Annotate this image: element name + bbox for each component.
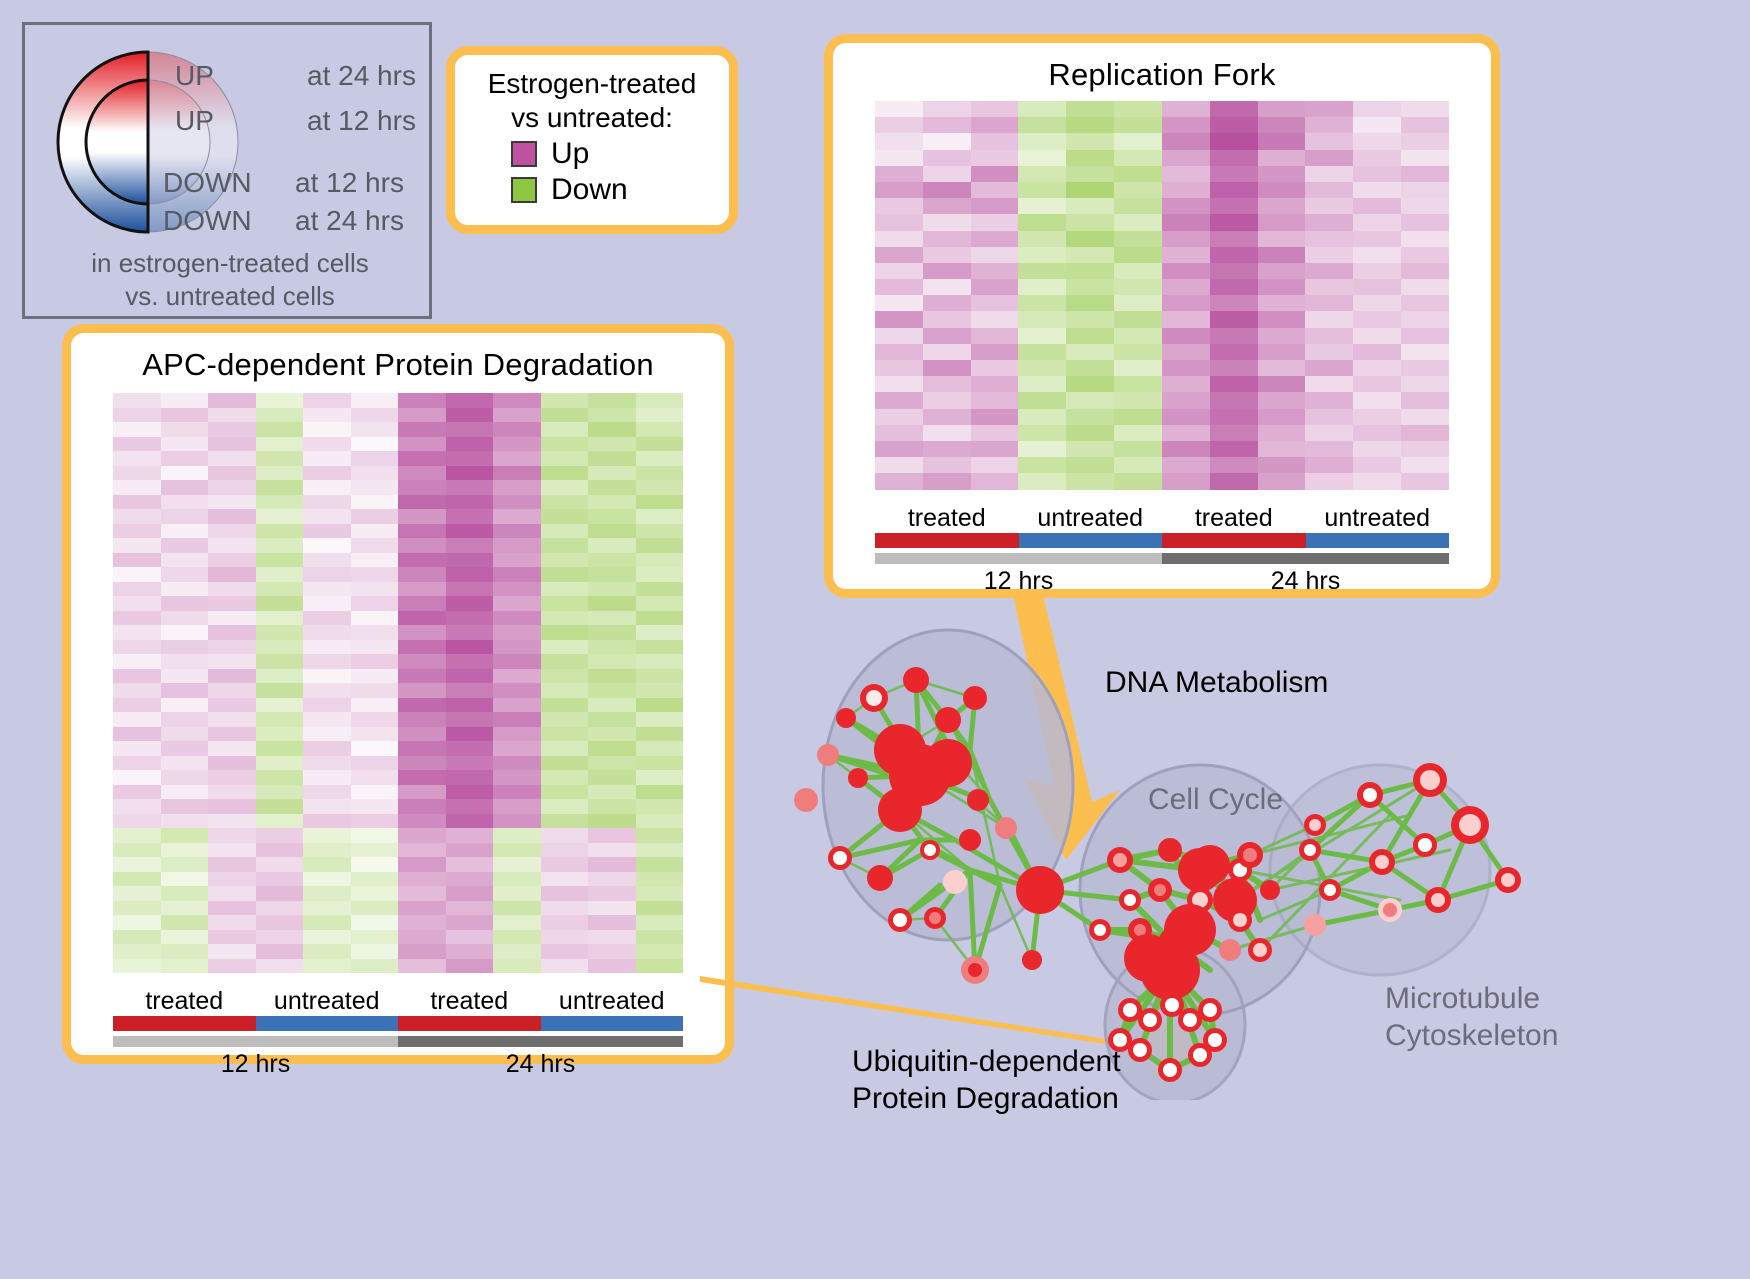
key-label: UP bbox=[175, 60, 307, 92]
heatmap-cell bbox=[1305, 247, 1353, 263]
heatmap-cell bbox=[493, 611, 541, 626]
heatmap-cell bbox=[256, 727, 304, 742]
heatmap-cell bbox=[446, 915, 494, 930]
heatmap-cell bbox=[446, 741, 494, 756]
heatmap-cell bbox=[541, 567, 589, 582]
heatmap-cell bbox=[351, 727, 399, 742]
heatmap-cell bbox=[1114, 247, 1162, 263]
heatmap-cell bbox=[636, 727, 684, 742]
heatmap-cell bbox=[923, 214, 971, 230]
heatmap-cell bbox=[1162, 150, 1210, 166]
heatmap-cell bbox=[588, 872, 636, 887]
heatmap-cell bbox=[493, 857, 541, 872]
heatmap-cell bbox=[1353, 295, 1401, 311]
heatmap-cell bbox=[971, 311, 1019, 327]
heatmap-cell bbox=[1210, 279, 1258, 295]
heatmap-cell bbox=[588, 828, 636, 843]
axis-apc-degradation: treated untreated treated untreated 12 h… bbox=[113, 987, 683, 1079]
label-dna-metabolism: DNA Metabolism bbox=[1105, 664, 1328, 701]
heatmap-cell bbox=[1114, 166, 1162, 182]
heatmap-cell bbox=[351, 640, 399, 655]
heatmap-cell bbox=[161, 770, 209, 785]
treatment-labels: treated untreated treated untreated bbox=[113, 987, 683, 1016]
heatmap-cell bbox=[208, 466, 256, 481]
heatmap-cell bbox=[636, 683, 684, 698]
heatmap-cell bbox=[303, 915, 351, 930]
heatmap-cell bbox=[303, 814, 351, 829]
heatmap-cell bbox=[1401, 376, 1449, 392]
heatmap-cell bbox=[113, 466, 161, 481]
heatmap-cell bbox=[256, 393, 304, 408]
heatmap-cell bbox=[875, 133, 923, 149]
heatmap-cell bbox=[161, 495, 209, 510]
heatmap-cell bbox=[971, 473, 1019, 489]
heatmap-cell bbox=[1401, 457, 1449, 473]
heatmap-cell bbox=[446, 857, 494, 872]
heatmap-cell bbox=[256, 785, 304, 800]
heatmap-cell bbox=[1305, 166, 1353, 182]
heatmap-cell bbox=[493, 828, 541, 843]
heatmap-cell bbox=[1210, 231, 1258, 247]
heatmap-cell bbox=[971, 198, 1019, 214]
heatmap-cell bbox=[208, 524, 256, 539]
heatmap-cell bbox=[1018, 344, 1066, 360]
heatmap-cell bbox=[1018, 247, 1066, 263]
heatmap-cell bbox=[208, 582, 256, 597]
heatmap-cell bbox=[208, 669, 256, 684]
heatmap-cell bbox=[446, 770, 494, 785]
heatmap-cell bbox=[588, 640, 636, 655]
heatmap-cell bbox=[113, 611, 161, 626]
heatmap-cell bbox=[1305, 360, 1353, 376]
heatmap-cell bbox=[161, 393, 209, 408]
bar-treated-12 bbox=[875, 533, 1019, 548]
heatmap-cell bbox=[446, 553, 494, 568]
heatmap-cell bbox=[113, 393, 161, 408]
heatmap-cell bbox=[1305, 344, 1353, 360]
heatmap-cell bbox=[398, 886, 446, 901]
heatmap-cell bbox=[1114, 101, 1162, 117]
heatmap-cell bbox=[161, 814, 209, 829]
heatmap-cell bbox=[256, 669, 304, 684]
heatmap-cell bbox=[303, 944, 351, 959]
heatmap-cell bbox=[398, 770, 446, 785]
heatmap-cell bbox=[303, 857, 351, 872]
heatmap-cell bbox=[541, 451, 589, 466]
updown-legend-card: Estrogen-treated vs untreated: Up Down bbox=[446, 46, 738, 234]
heatmap-cell bbox=[1162, 360, 1210, 376]
heatmap-cell bbox=[636, 408, 684, 423]
heatmap-cell bbox=[398, 480, 446, 495]
heatmap-cell bbox=[208, 480, 256, 495]
heatmap-cell bbox=[398, 393, 446, 408]
heatmap-cell bbox=[541, 944, 589, 959]
heatmap-cell bbox=[1305, 376, 1353, 392]
treatment-label: treated bbox=[1162, 504, 1306, 533]
heatmap-cell bbox=[1401, 133, 1449, 149]
heatmap-cell bbox=[1258, 247, 1306, 263]
heatmap-cell bbox=[1353, 263, 1401, 279]
heatmap-cell bbox=[1162, 392, 1210, 408]
heatmap-cell bbox=[1305, 311, 1353, 327]
time-label: 24 hrs bbox=[1162, 567, 1449, 596]
heatmap-cell bbox=[398, 611, 446, 626]
heatmap-cell bbox=[588, 727, 636, 742]
heatmap-cell bbox=[398, 495, 446, 510]
heatmap-cell bbox=[161, 640, 209, 655]
heatmap-cell bbox=[208, 495, 256, 510]
heatmap-cell bbox=[923, 328, 971, 344]
heatmap-cell bbox=[113, 524, 161, 539]
heatmap-cell bbox=[1066, 409, 1114, 425]
key-time: at 12 hrs bbox=[307, 105, 416, 137]
heatmap-cell bbox=[1305, 457, 1353, 473]
heatmap-cell bbox=[1353, 328, 1401, 344]
heatmap-cell bbox=[541, 582, 589, 597]
bar-treated-12 bbox=[113, 1016, 256, 1031]
heatmap-cell bbox=[923, 182, 971, 198]
heatmap-cell bbox=[208, 712, 256, 727]
heatmap-cell bbox=[1305, 133, 1353, 149]
heatmap-cell bbox=[1258, 198, 1306, 214]
heatmap-cell bbox=[446, 727, 494, 742]
heatmap-cell bbox=[1353, 182, 1401, 198]
heatmap-cell bbox=[113, 596, 161, 611]
heatmap-cell bbox=[398, 785, 446, 800]
heatmap-cell bbox=[541, 814, 589, 829]
heatmap-cell bbox=[256, 886, 304, 901]
heatmap-cell bbox=[161, 843, 209, 858]
heatmap-cell bbox=[1258, 409, 1306, 425]
heatmap-cell bbox=[923, 473, 971, 489]
heatmap-cell bbox=[1258, 457, 1306, 473]
heatmap-cell bbox=[303, 640, 351, 655]
heatmap-cell bbox=[1305, 409, 1353, 425]
heatmap-cell bbox=[971, 150, 1019, 166]
heatmap-cell bbox=[971, 344, 1019, 360]
heatmap-cell bbox=[303, 509, 351, 524]
heatmap-cell bbox=[446, 959, 494, 974]
heatmap-cell bbox=[256, 524, 304, 539]
heatmap-cell bbox=[636, 712, 684, 727]
heatmap-cell bbox=[1258, 441, 1306, 457]
heatmap-cell bbox=[351, 799, 399, 814]
heatmap-cell bbox=[1162, 376, 1210, 392]
label-cell-cycle: Cell Cycle bbox=[1148, 781, 1283, 818]
heatmap-cell bbox=[446, 828, 494, 843]
heatmap-cell bbox=[398, 596, 446, 611]
heatmap-cell bbox=[923, 392, 971, 408]
heatmap-cell bbox=[303, 756, 351, 771]
heatmap-cell bbox=[256, 466, 304, 481]
heatmap-cell bbox=[113, 698, 161, 713]
heatmap-cell bbox=[493, 437, 541, 452]
heatmap-cell bbox=[256, 828, 304, 843]
heatmap-cell bbox=[113, 683, 161, 698]
heatmap-cell bbox=[1210, 311, 1258, 327]
heatmap-cell bbox=[398, 466, 446, 481]
heatmap-cell bbox=[541, 466, 589, 481]
panel-replication-fork: Replication Fork treated untreated treat… bbox=[824, 34, 1500, 598]
heatmap-cell bbox=[398, 553, 446, 568]
heatmap-cell bbox=[1353, 376, 1401, 392]
heatmap-cell bbox=[875, 150, 923, 166]
heatmap-cell bbox=[875, 392, 923, 408]
heatmap-cell bbox=[351, 625, 399, 640]
heatmap-cell bbox=[446, 408, 494, 423]
key-label: UP bbox=[175, 105, 307, 137]
heatmap-cell bbox=[1353, 311, 1401, 327]
heatmap-cell bbox=[1258, 473, 1306, 489]
heatmap-cell bbox=[161, 669, 209, 684]
heatmap-cell bbox=[493, 944, 541, 959]
heatmap-cell bbox=[541, 930, 589, 945]
heatmap-cell bbox=[1210, 117, 1258, 133]
heatmap-cell bbox=[1258, 360, 1306, 376]
heatmap-cell bbox=[303, 770, 351, 785]
heatmap-cell bbox=[208, 683, 256, 698]
heatmap-cell bbox=[541, 393, 589, 408]
heatmap-cell bbox=[1258, 392, 1306, 408]
heatmap-cell bbox=[303, 596, 351, 611]
heatmap-cell bbox=[1162, 344, 1210, 360]
heatmap-cell bbox=[1018, 328, 1066, 344]
heatmap-cell bbox=[1066, 150, 1114, 166]
heatmap-cell bbox=[636, 872, 684, 887]
heatmap-cell bbox=[113, 727, 161, 742]
heatmap-cell bbox=[208, 901, 256, 916]
heatmap-cell bbox=[1162, 311, 1210, 327]
heatmap-cell bbox=[636, 582, 684, 597]
color-key-box: UP at 24 hrs UP at 12 hrs DOWN at 12 hrs… bbox=[22, 22, 432, 319]
heatmap-cell bbox=[161, 625, 209, 640]
heatmap-cell bbox=[875, 263, 923, 279]
heatmap-cell bbox=[113, 451, 161, 466]
heatmap-cell bbox=[493, 451, 541, 466]
heatmap-cell bbox=[161, 930, 209, 945]
heatmap-cell bbox=[208, 944, 256, 959]
bar-treated-24 bbox=[398, 1016, 541, 1031]
heatmap-cell bbox=[303, 959, 351, 974]
heatmap-cell bbox=[875, 166, 923, 182]
heatmap-cell bbox=[113, 437, 161, 452]
heatmap-cell bbox=[398, 509, 446, 524]
heatmap-cell bbox=[541, 422, 589, 437]
heatmap-cell bbox=[256, 756, 304, 771]
heatmap-cell bbox=[303, 466, 351, 481]
heatmap-cell bbox=[161, 828, 209, 843]
heatmap-cell bbox=[636, 901, 684, 916]
heatmap-cell bbox=[493, 480, 541, 495]
heatmap-cell bbox=[923, 360, 971, 376]
heatmap-cell bbox=[1353, 133, 1401, 149]
heatmap-cell bbox=[113, 756, 161, 771]
heatmap-cell bbox=[588, 843, 636, 858]
heatmap-cell bbox=[588, 930, 636, 945]
heatmap-cell bbox=[398, 567, 446, 582]
heatmap-cell bbox=[493, 640, 541, 655]
heatmap-cell bbox=[493, 582, 541, 597]
heatmap-cell bbox=[256, 480, 304, 495]
heatmap-cell bbox=[493, 770, 541, 785]
heatmap-cell bbox=[398, 408, 446, 423]
heatmap-cell bbox=[351, 466, 399, 481]
heatmap-cell bbox=[398, 944, 446, 959]
heatmap-cell bbox=[1210, 166, 1258, 182]
heatmap-cell bbox=[493, 712, 541, 727]
heatmap-cell bbox=[113, 886, 161, 901]
treatment-label: untreated bbox=[1306, 504, 1450, 533]
heatmap-cell bbox=[208, 857, 256, 872]
heatmap-cell bbox=[161, 727, 209, 742]
heatmap-cell bbox=[1258, 376, 1306, 392]
heatmap-cell bbox=[1114, 344, 1162, 360]
heatmap-cell bbox=[256, 901, 304, 916]
heatmap-cell bbox=[1018, 311, 1066, 327]
key-row-down-12: DOWN at 12 hrs bbox=[163, 167, 404, 199]
heatmap-cell bbox=[446, 901, 494, 916]
heatmap-cell bbox=[351, 495, 399, 510]
heatmap-cell bbox=[1258, 231, 1306, 247]
heatmap-cell bbox=[351, 596, 399, 611]
bar-24hrs bbox=[1162, 553, 1449, 564]
heatmap-cell bbox=[1210, 473, 1258, 489]
heatmap-cell bbox=[588, 567, 636, 582]
heatmap-cell bbox=[113, 567, 161, 582]
heatmap-cell bbox=[588, 596, 636, 611]
heatmap-cell bbox=[541, 770, 589, 785]
heatmap-cell bbox=[1066, 311, 1114, 327]
heatmap-cell bbox=[636, 799, 684, 814]
heatmap-cell bbox=[541, 698, 589, 713]
heatmap-cell bbox=[971, 328, 1019, 344]
heatmap-cell bbox=[493, 524, 541, 539]
heatmap-cell bbox=[493, 741, 541, 756]
heatmap-cell bbox=[1162, 279, 1210, 295]
heatmap-cell bbox=[351, 393, 399, 408]
heatmap-cell bbox=[971, 133, 1019, 149]
heatmap-cell bbox=[875, 425, 923, 441]
heatmap-cell bbox=[588, 741, 636, 756]
heatmap-cell bbox=[351, 930, 399, 945]
heatmap-cell bbox=[398, 654, 446, 669]
heatmap-cell bbox=[1162, 247, 1210, 263]
heatmap-cell bbox=[1210, 182, 1258, 198]
heatmap-cell bbox=[1353, 360, 1401, 376]
heatmap-cell bbox=[493, 799, 541, 814]
key-label: DOWN bbox=[163, 205, 295, 237]
heatmap-cell bbox=[588, 451, 636, 466]
heatmap-cell bbox=[541, 640, 589, 655]
heatmap-cell bbox=[588, 756, 636, 771]
heatmap-cell bbox=[351, 524, 399, 539]
heatmap-cell bbox=[923, 376, 971, 392]
heatmap-cell bbox=[113, 785, 161, 800]
heatmap-cell bbox=[113, 814, 161, 829]
heatmap-cell bbox=[351, 408, 399, 423]
heatmap-cell bbox=[256, 451, 304, 466]
heatmap-cell bbox=[351, 567, 399, 582]
heatmap-cell bbox=[161, 698, 209, 713]
heatmap-cell bbox=[208, 814, 256, 829]
heatmap-cell bbox=[446, 437, 494, 452]
heatmap-cell bbox=[1210, 263, 1258, 279]
heatmap-cell bbox=[1066, 263, 1114, 279]
heatmap-cell bbox=[256, 770, 304, 785]
heatmap-cell bbox=[636, 857, 684, 872]
heatmap-cell bbox=[588, 814, 636, 829]
key-label: DOWN bbox=[163, 167, 295, 199]
heatmap-cell bbox=[1114, 311, 1162, 327]
heatmap-cell bbox=[446, 625, 494, 640]
heatmap-cell bbox=[351, 683, 399, 698]
heatmap-cell bbox=[256, 437, 304, 452]
heatmap-cell bbox=[875, 360, 923, 376]
heatmap-cell bbox=[493, 408, 541, 423]
heatmap-cell bbox=[1114, 295, 1162, 311]
label-line-2: Cytoskeleton bbox=[1385, 1017, 1558, 1054]
heatmap-cell bbox=[875, 198, 923, 214]
heatmap-cell bbox=[256, 582, 304, 597]
heatmap-cell bbox=[588, 944, 636, 959]
caption-line-1: in estrogen-treated cells bbox=[25, 247, 435, 280]
heatmap-cell bbox=[875, 247, 923, 263]
heatmap-cell bbox=[113, 495, 161, 510]
heatmap-cell bbox=[161, 944, 209, 959]
heatmap-cell bbox=[398, 828, 446, 843]
heatmap-cell bbox=[1401, 425, 1449, 441]
key-row-up-24: UP at 24 hrs bbox=[175, 60, 416, 92]
heatmap-cell bbox=[1162, 457, 1210, 473]
heatmap-cell bbox=[636, 393, 684, 408]
heatmap-cell bbox=[1066, 117, 1114, 133]
heatmap-cell bbox=[351, 509, 399, 524]
heatmap-cell bbox=[1018, 198, 1066, 214]
heatmap-apc-degradation bbox=[113, 393, 683, 973]
heatmap-cell bbox=[303, 872, 351, 887]
heatmap-cell bbox=[923, 133, 971, 149]
heatmap-cell bbox=[588, 698, 636, 713]
heatmap-cell bbox=[1353, 457, 1401, 473]
heatmap-cell bbox=[303, 582, 351, 597]
heatmap-cell bbox=[1162, 409, 1210, 425]
heatmap-cell bbox=[113, 901, 161, 916]
heatmap-cell bbox=[161, 799, 209, 814]
heatmap-cell bbox=[398, 799, 446, 814]
heatmap-cell bbox=[398, 524, 446, 539]
heatmap-cell bbox=[303, 741, 351, 756]
heatmap-cell bbox=[1018, 392, 1066, 408]
heatmap-cell bbox=[1401, 328, 1449, 344]
heatmap-cell bbox=[256, 814, 304, 829]
heatmap-cell bbox=[113, 509, 161, 524]
heatmap-cell bbox=[208, 741, 256, 756]
heatmap-cell bbox=[303, 393, 351, 408]
key-row-down-24: DOWN at 24 hrs bbox=[163, 205, 404, 237]
heatmap-cell bbox=[1353, 279, 1401, 295]
heatmap-cell bbox=[971, 214, 1019, 230]
heatmap-cell bbox=[208, 625, 256, 640]
heatmap-cell bbox=[398, 843, 446, 858]
heatmap-cell bbox=[541, 669, 589, 684]
heatmap-cell bbox=[351, 785, 399, 800]
heatmap-cell bbox=[351, 582, 399, 597]
heatmap-cell bbox=[1066, 328, 1114, 344]
heatmap-cell bbox=[1401, 150, 1449, 166]
heatmap-cell bbox=[971, 182, 1019, 198]
treatment-label: untreated bbox=[1019, 504, 1163, 533]
heatmap-cell bbox=[1018, 182, 1066, 198]
